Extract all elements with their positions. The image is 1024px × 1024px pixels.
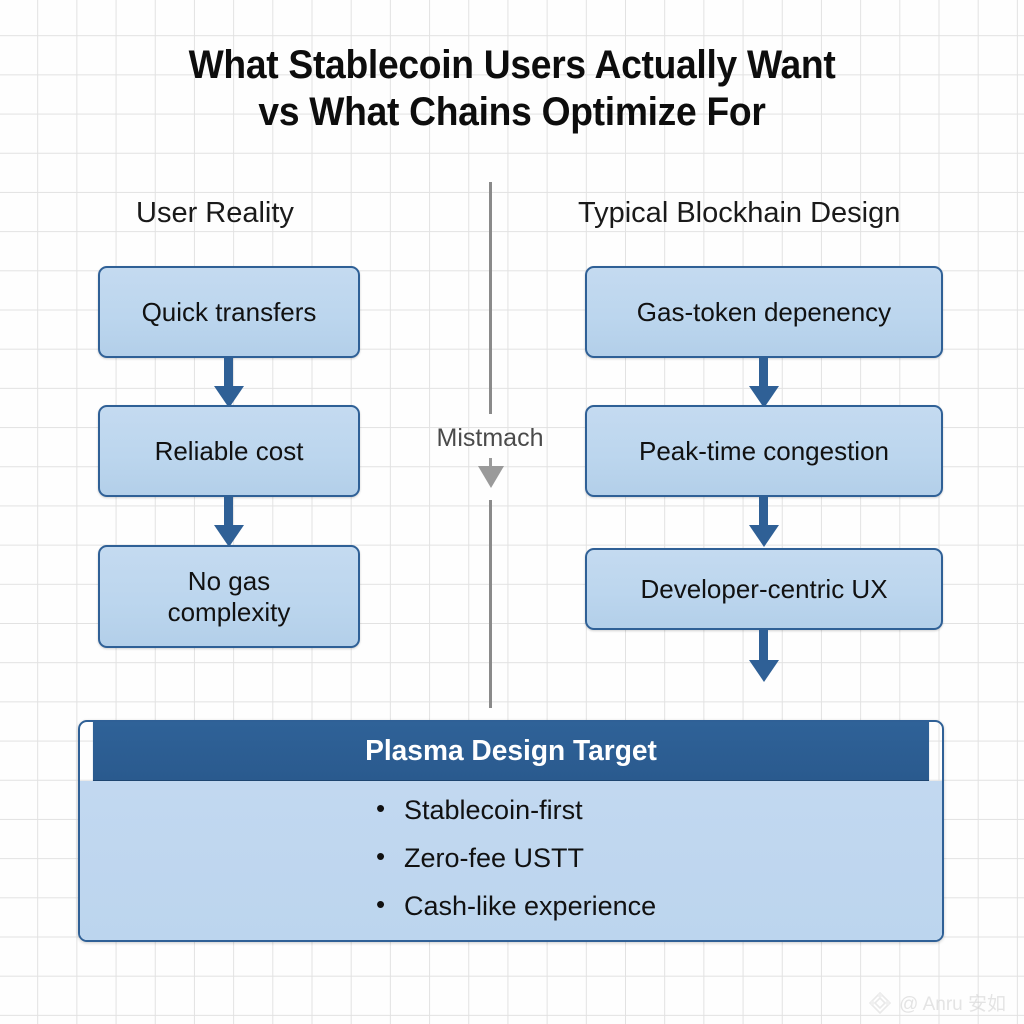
- plasma-design-target-panel: Plasma Design Target Stablecoin-first Ze…: [78, 720, 944, 942]
- column-heading-typical-blockchain-design: Typical Blockhain Design: [578, 197, 900, 230]
- list-item: Stablecoin-first: [376, 797, 942, 824]
- flow-box-no-gas-complexity[interactable]: No gas complexity: [98, 545, 360, 648]
- center-divider-upper: [489, 182, 492, 414]
- center-divider-lower: [489, 500, 492, 708]
- diamond-logo-icon: [867, 990, 893, 1016]
- flow-box-peak-time-congestion[interactable]: Peak-time congestion: [585, 405, 943, 497]
- diagram-canvas: What Stablecoin Users Actually Want vs W…: [0, 0, 1024, 1024]
- watermark: @ Anru 安如: [867, 989, 1006, 1016]
- flow-box-gas-token-dependency[interactable]: Gas-token depenency: [585, 266, 943, 358]
- panel-bullet-list: Stablecoin-first Zero-fee USTT Cash-like…: [80, 797, 942, 920]
- page-title: What Stablecoin Users Actually Want vs W…: [36, 42, 988, 136]
- mismatch-label: Mistmach: [395, 424, 585, 453]
- flow-box-no-gas-complexity-line-2: complexity: [168, 597, 291, 628]
- arrow-head-right-to-panel: [749, 660, 779, 682]
- flow-box-no-gas-complexity-line-1: No gas: [188, 566, 270, 597]
- arrow-head-left-2: [214, 525, 244, 547]
- title-line-1: What Stablecoin Users Actually Want: [189, 43, 836, 87]
- arrow-head-right-2: [749, 525, 779, 547]
- flow-box-developer-centric-ux[interactable]: Developer-centric UX: [585, 548, 943, 630]
- flow-box-quick-transfers[interactable]: Quick transfers: [98, 266, 360, 358]
- panel-body: Stablecoin-first Zero-fee USTT Cash-like…: [80, 781, 942, 942]
- watermark-text: @ Anru 安如: [899, 989, 1006, 1016]
- list-item: Zero-fee USTT: [376, 845, 942, 872]
- flow-box-reliable-cost[interactable]: Reliable cost: [98, 405, 360, 497]
- column-heading-user-reality: User Reality: [136, 197, 294, 230]
- panel-header-title: Plasma Design Target: [93, 722, 929, 781]
- list-item: Cash-like experience: [376, 893, 942, 920]
- title-line-2: vs What Chains Optimize For: [36, 89, 988, 136]
- mismatch-arrow-icon: [478, 466, 504, 488]
